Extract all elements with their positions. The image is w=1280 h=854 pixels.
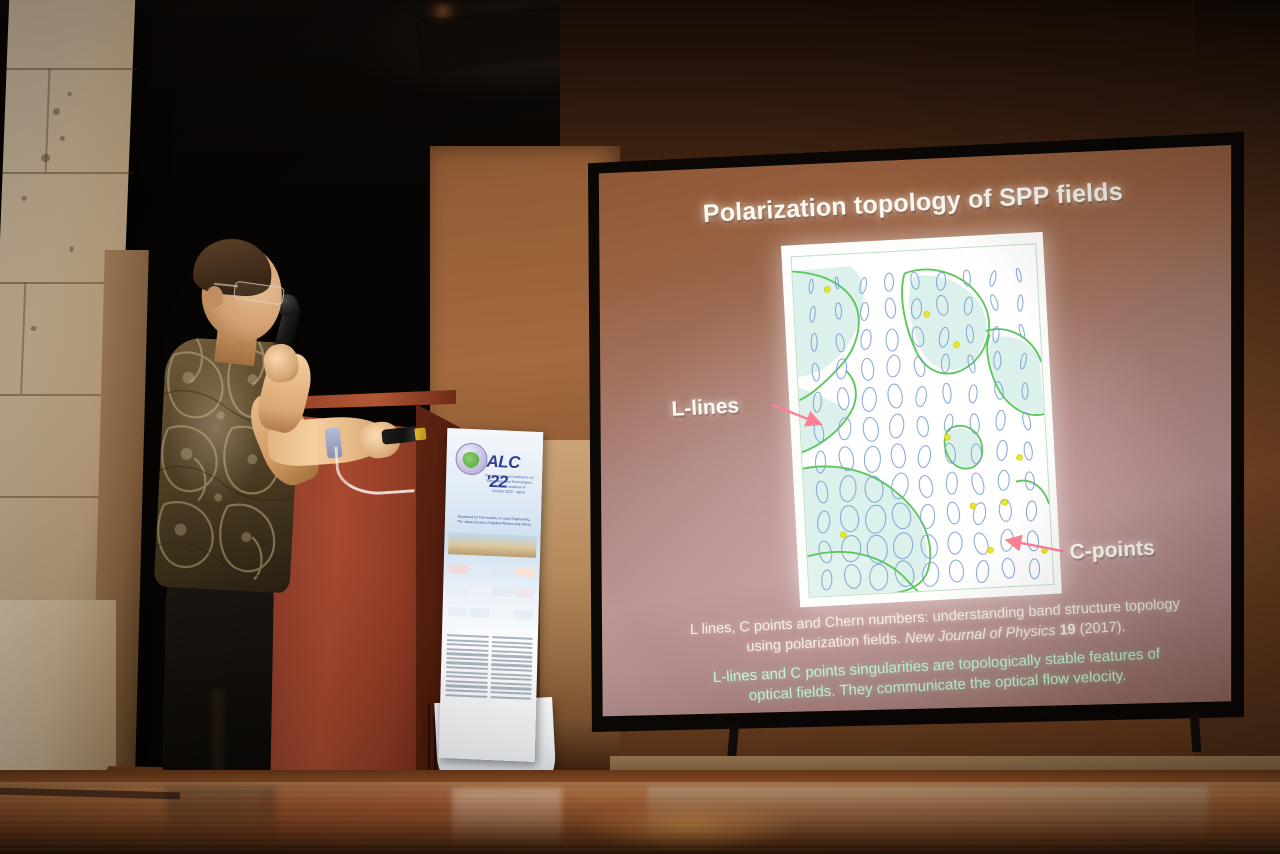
polarization-field-plot <box>791 243 1055 598</box>
presentation-photo: Polarization topology of SPP fields <box>0 0 1280 854</box>
clicker-tip <box>414 427 426 440</box>
banner-subtitle: The International Conference on Advanced… <box>480 473 538 496</box>
speaker <box>150 240 450 820</box>
sponsor-logo <box>491 609 511 619</box>
speaker-ear <box>206 286 223 308</box>
banner-photo-strip <box>448 532 537 558</box>
caption-year: (2017). <box>1075 619 1126 638</box>
sponsor-logo <box>470 586 490 596</box>
banner-column <box>488 636 533 758</box>
slide-content: Polarization topology of SPP fields <box>580 124 1250 737</box>
screen-surface: Polarization topology of SPP fields <box>595 141 1235 721</box>
banner-program-columns <box>444 634 533 758</box>
conference-banner: ALC '22 The International Conference on … <box>439 428 544 762</box>
polarization-field-svg <box>792 244 1054 597</box>
floor-gloss <box>0 782 1280 854</box>
stone-block <box>0 600 116 792</box>
sponsor-logo <box>447 607 467 617</box>
slide-title: Polarization topology of SPP fields <box>633 174 1194 233</box>
sponsor-logo <box>514 588 534 598</box>
caption-journal: New Journal of Physics <box>905 622 1060 646</box>
microphone-cable <box>334 441 414 497</box>
sponsor-logo <box>492 587 512 597</box>
banner-organizer: Organized by The Institute of Laser Engi… <box>455 514 533 528</box>
globe-logo-icon <box>455 442 488 475</box>
sponsor-logo <box>515 567 535 577</box>
banner-sponsor-logos <box>447 564 535 630</box>
banner-column <box>444 634 489 756</box>
sponsor-logo <box>469 608 489 618</box>
sponsor-logo <box>471 565 491 575</box>
c-points-label: C-points <box>1069 536 1155 564</box>
l-lines-label: L-lines <box>671 394 740 422</box>
caption-volume: 19 <box>1059 621 1076 638</box>
projection-screen: Polarization topology of SPP fields <box>588 132 1244 732</box>
sponsor-logo <box>493 566 513 576</box>
figure-panel <box>781 232 1062 607</box>
sponsor-logo <box>513 610 533 620</box>
sponsor-logo <box>449 564 469 574</box>
sponsor-logo <box>448 585 468 595</box>
